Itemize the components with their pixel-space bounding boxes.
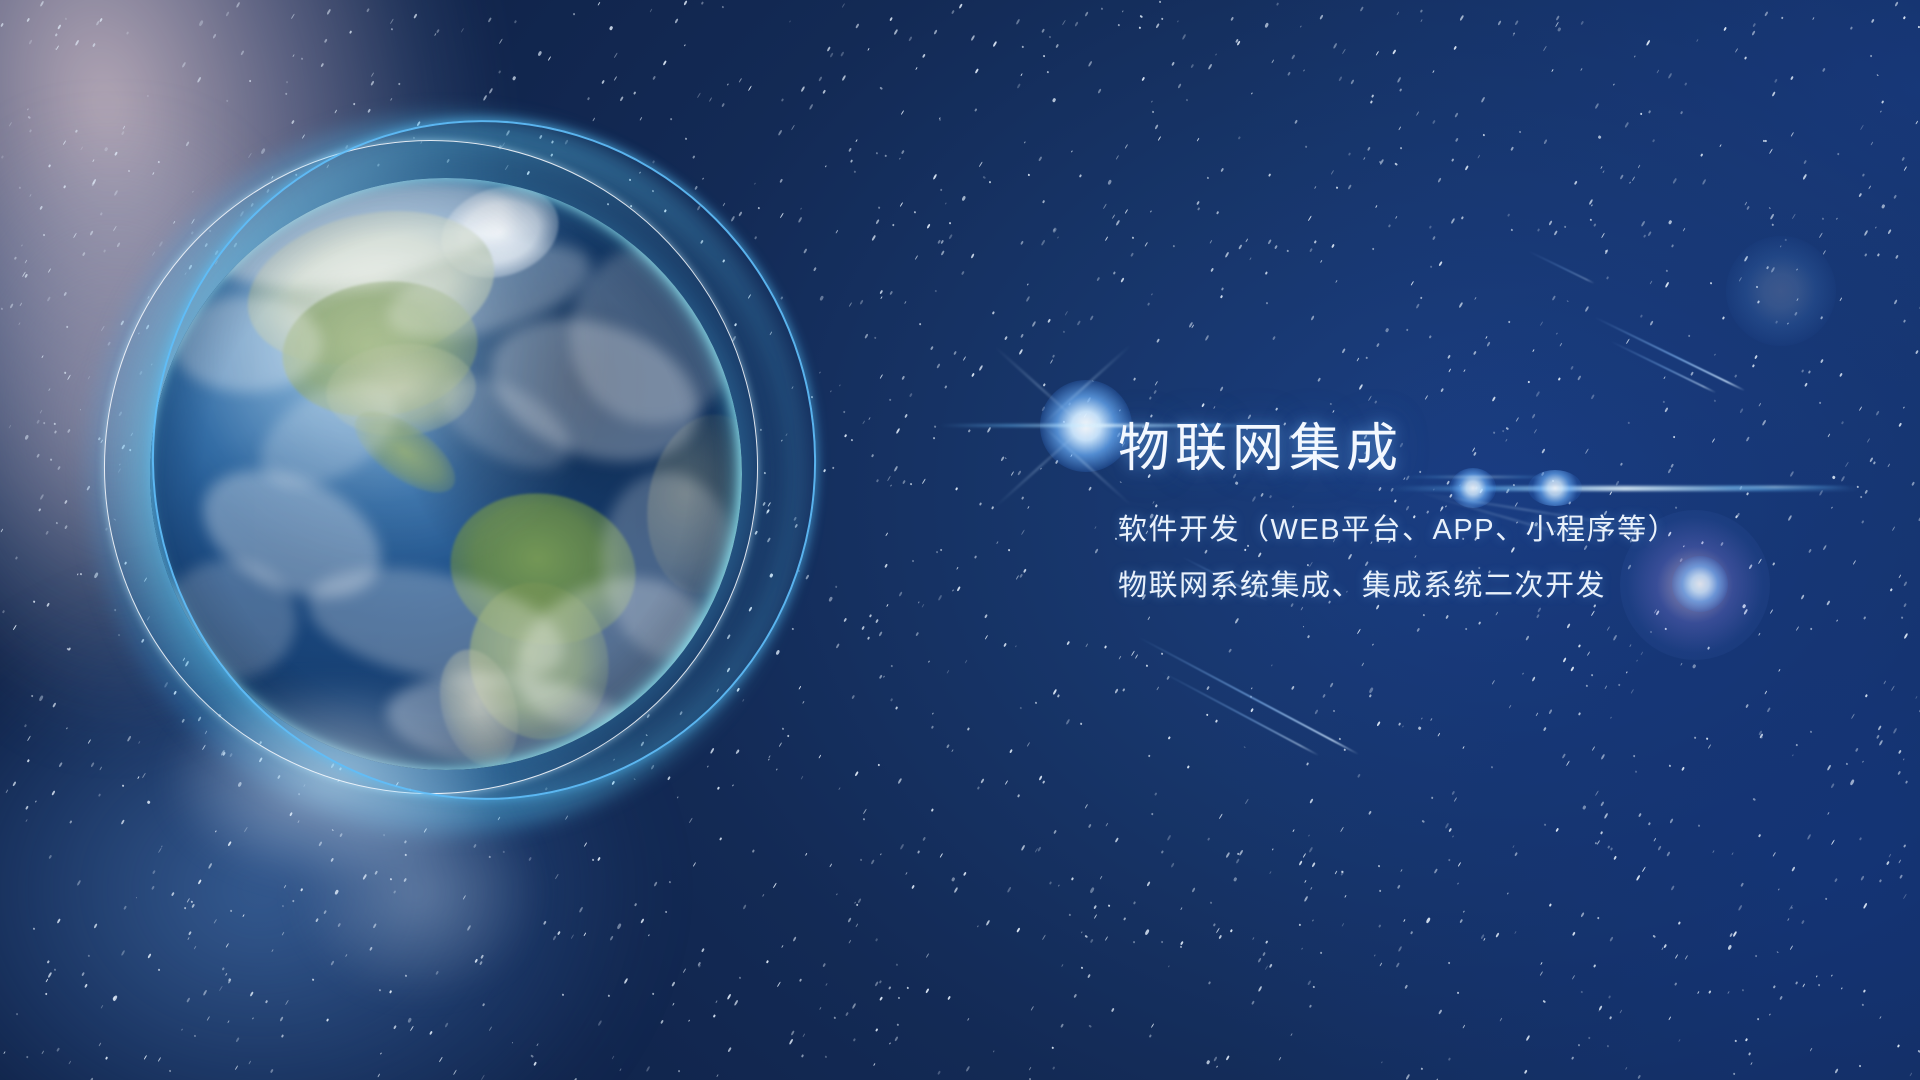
- lens-flare-bloom: [1726, 236, 1836, 346]
- subtitle-line-2: 物联网系统集成、集成系统二次开发: [1118, 560, 1878, 612]
- page-title: 物联网集成: [1118, 418, 1878, 480]
- banner-stage: 物联网集成 软件开发（WEB平台、APP、小程序等） 物联网系统集成、集成系统二…: [0, 0, 1920, 1080]
- banner-text-block: 物联网集成 软件开发（WEB平台、APP、小程序等） 物联网系统集成、集成系统二…: [1118, 418, 1878, 612]
- subtitle-line-1: 软件开发（WEB平台、APP、小程序等）: [1118, 504, 1878, 556]
